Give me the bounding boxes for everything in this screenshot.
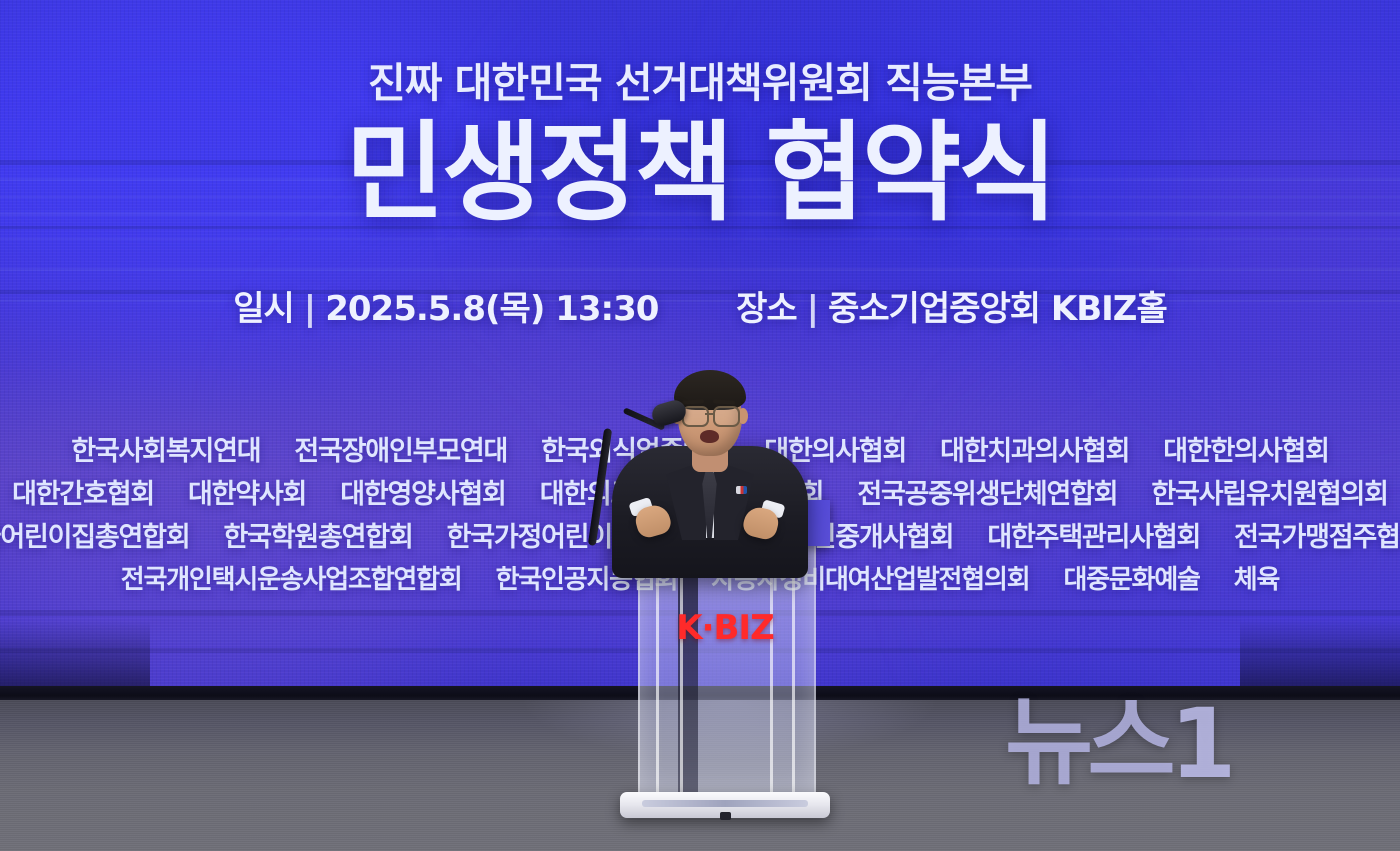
organization-name: 한국사립유치원협의회 — [1151, 473, 1387, 516]
date-divider: | — [294, 289, 325, 329]
speaker-figure — [614, 368, 804, 568]
korean-flag-lapel-pin-icon — [736, 486, 747, 494]
speaker-eyeglasses-right — [713, 406, 740, 427]
organization-name: 대한영양사협회 — [340, 473, 505, 516]
banner-text-block: 진짜 대한민국 선거대책위원회 직능본부 민생정책 협약식 일시|2025.5.… — [0, 0, 1400, 330]
kbiz-logo: K·BIZ — [620, 608, 830, 648]
venue-label: 장소 — [736, 289, 797, 329]
organization-name: 대한치과의사협회 — [940, 430, 1129, 473]
banner-title: 민생정책 협약식 — [0, 119, 1400, 229]
organization-name: 전국공중위생단체연합회 — [857, 473, 1117, 516]
organization-name: 대중문화예술 — [1063, 559, 1199, 602]
banner-meta-line: 일시|2025.5.8(목) 13:30 장소|중소기업중앙회 KBIZ홀 — [0, 281, 1400, 330]
photo-stage: 진짜 대한민국 선거대책위원회 직능본부 민생정책 협약식 일시|2025.5.… — [0, 0, 1400, 851]
speaker-mouth — [700, 430, 719, 443]
organization-name: 대한주택관리사협회 — [987, 516, 1200, 559]
organization-name: 대한한의사협회 — [1163, 430, 1328, 473]
organization-name: 한국사회복지연대 — [71, 430, 260, 473]
date-value: 2025.5.8(목) 13:30 — [325, 289, 658, 329]
organization-name: 전국장애인부모연대 — [294, 430, 507, 473]
date-label: 일시 — [233, 289, 294, 329]
organization-name: 전국개인택시운송사업조합연합회 — [121, 559, 462, 602]
venue-divider: | — [797, 289, 828, 329]
organization-name: 한국학원총연합회 — [223, 516, 412, 559]
organization-name: 대한간호협회 — [12, 473, 154, 516]
podium-base-notch — [720, 812, 731, 820]
speaker-eyeglasses-bridge — [705, 413, 713, 415]
organization-name: 체육 — [1234, 559, 1279, 602]
speaker-eyeglasses-left — [682, 406, 709, 427]
organization-name: 대한약사회 — [188, 473, 306, 516]
podium-base-slot — [642, 800, 808, 807]
venue-value: 중소기업중앙회 KBIZ홀 — [828, 289, 1167, 329]
organization-name: 한국어린이집총연합회 — [0, 516, 189, 559]
organization-name: 전국가맹점주협의회 — [1234, 516, 1400, 559]
banner-kicker: 진짜 대한민국 선거대책위원회 직능본부 — [0, 62, 1400, 105]
